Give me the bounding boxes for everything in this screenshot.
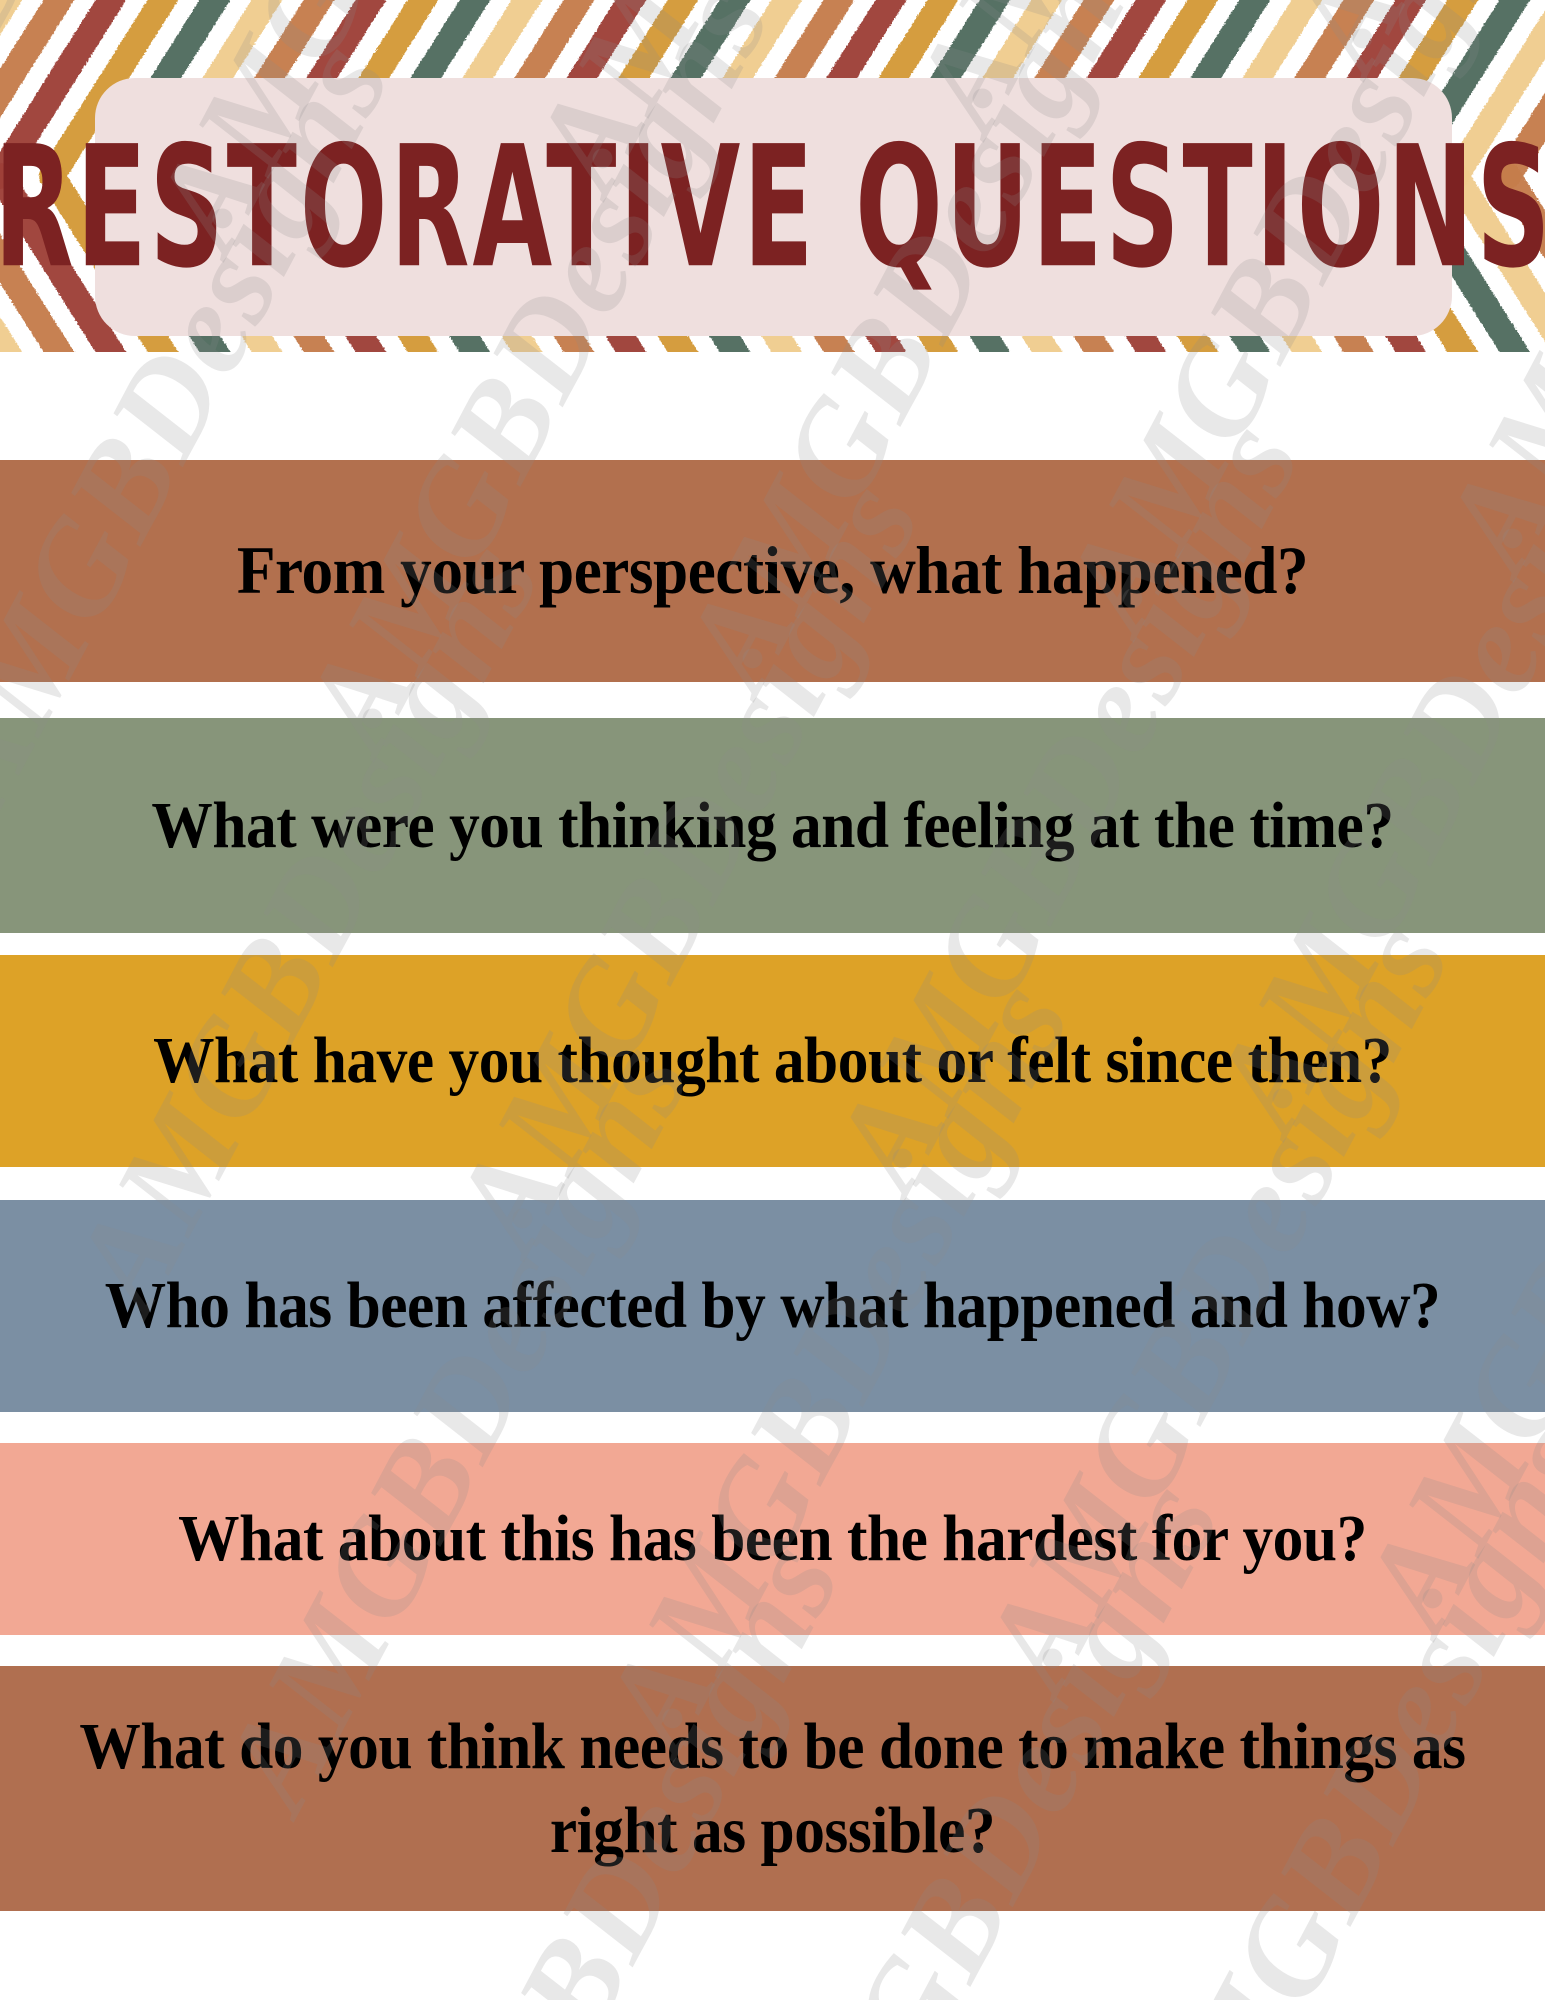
question-text: What about this has been the hardest for… <box>67 1497 1478 1580</box>
question-text: What were you thinking and feeling at th… <box>67 784 1478 867</box>
question-band: Who has been affected by what happened a… <box>0 1200 1545 1412</box>
question-band: What were you thinking and feeling at th… <box>0 718 1545 933</box>
title-plaque: RESTORATIVE QUESTIONS <box>95 78 1452 336</box>
page-title: RESTORATIVE QUESTIONS <box>0 123 1545 291</box>
question-text: What have you thought about or felt sinc… <box>67 1019 1478 1102</box>
question-text: From your perspective, what happened? <box>67 528 1478 614</box>
question-band: What do you think needs to be done to ma… <box>0 1666 1545 1911</box>
question-band: From your perspective, what happened? <box>0 460 1545 682</box>
question-band: What about this has been the hardest for… <box>0 1443 1545 1635</box>
question-text: Who has been affected by what happened a… <box>67 1264 1478 1347</box>
question-band: What have you thought about or felt sinc… <box>0 955 1545 1167</box>
question-text: What do you think needs to be done to ma… <box>67 1705 1478 1871</box>
poster-root: RESTORATIVE QUESTIONS From your perspect… <box>0 0 1545 2000</box>
